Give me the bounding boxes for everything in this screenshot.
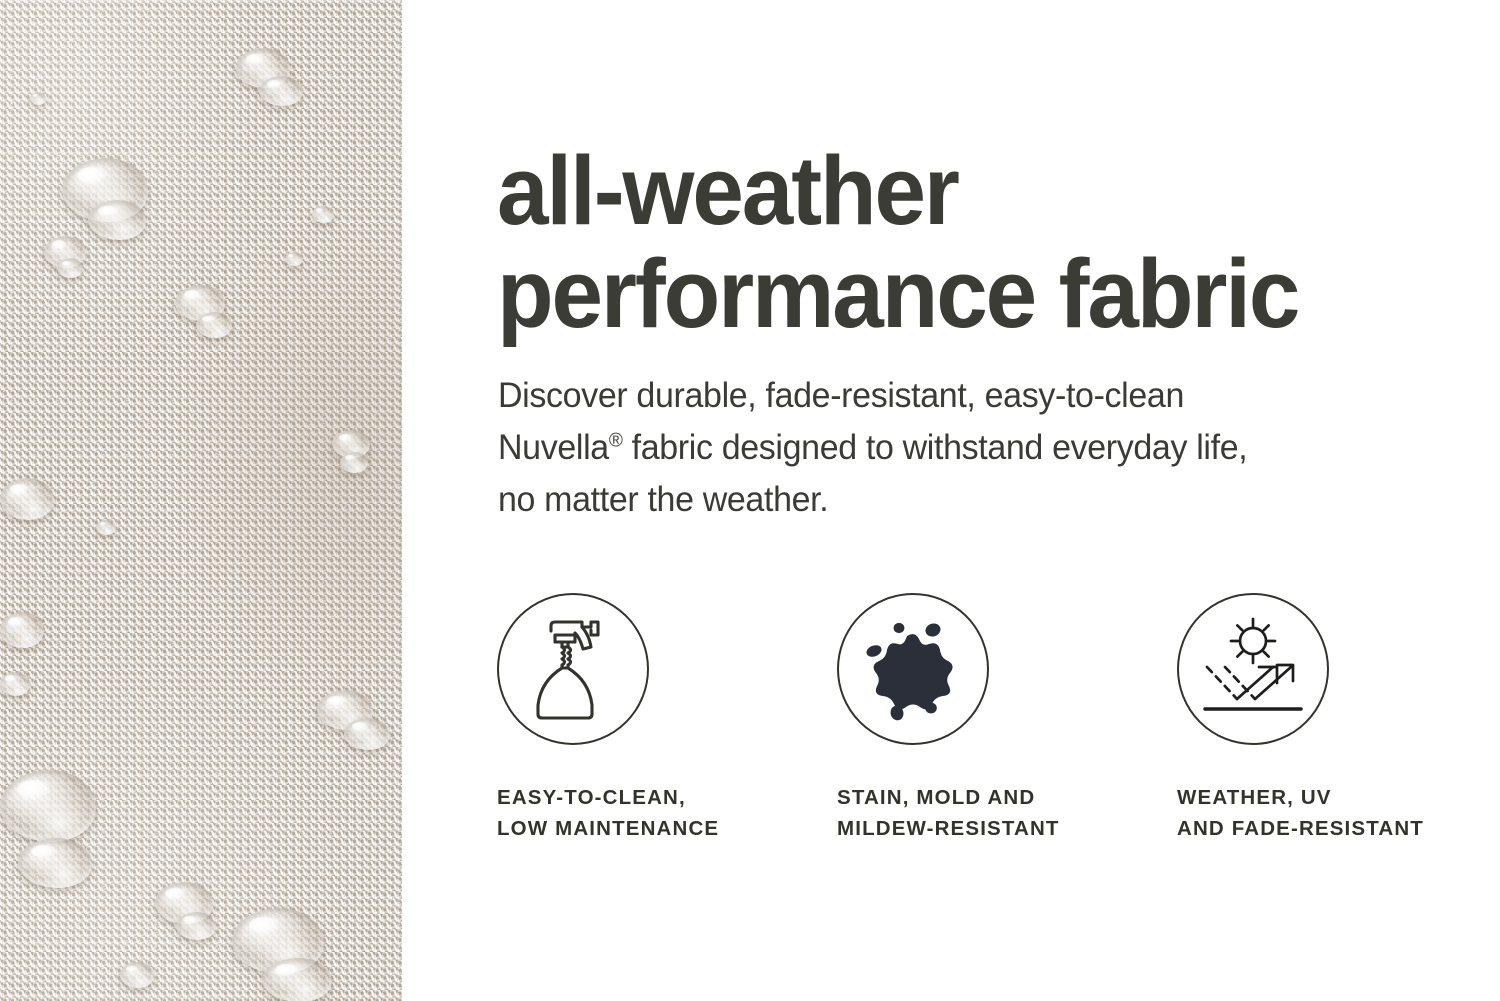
feature-caption: WEATHER, UV AND FADE-RESISTANT (1177, 782, 1500, 844)
feature-easy-to-clean: EASY-TO-CLEAN, LOW MAINTENANCE (497, 593, 837, 844)
fabric-photo-panel (0, 0, 402, 1001)
water-droplet (96, 520, 116, 535)
water-droplet (259, 76, 303, 106)
water-droplet (0, 770, 96, 842)
feature-stain-resistant: STAIN, MOLD AND MILDEW-RESISTANT (837, 593, 1177, 844)
water-droplet (262, 958, 332, 1001)
feature-caption: EASY-TO-CLEAN, LOW MAINTENANCE (497, 782, 837, 844)
description-line-2: fabric designed to withstand everyday li… (623, 428, 1248, 467)
water-droplet (30, 92, 46, 105)
feature-caption: STAIN, MOLD AND MILDEW-RESISTANT (837, 782, 1177, 844)
water-droplet (312, 206, 334, 223)
water-droplet (57, 258, 83, 278)
water-droplet (0, 478, 54, 520)
feature-icon-badge (837, 593, 989, 745)
water-droplet (0, 612, 44, 648)
water-droplet (88, 200, 146, 240)
content-column: all-weatherperformance fabric Discover d… (497, 0, 1457, 1001)
water-droplet (120, 962, 154, 988)
water-droplet (196, 312, 232, 338)
water-droplet (176, 912, 216, 940)
description-line-1: Discover durable, fade-resistant, easy-t… (498, 376, 1184, 415)
water-droplet (285, 252, 303, 266)
registered-trademark-icon: ® (609, 429, 623, 451)
water-droplet (340, 452, 368, 473)
feature-icon-badge (497, 593, 649, 745)
brand-name: Nuvella (498, 428, 609, 467)
description-paragraph: Discover durable, fade-resistant, easy-t… (498, 370, 1371, 526)
water-droplet (18, 838, 92, 888)
feature-icon-badge (1177, 593, 1329, 745)
spray-bottle-icon (521, 613, 625, 725)
feature-weather-uv-resistant: WEATHER, UV AND FADE-RESISTANT (1177, 593, 1500, 844)
water-droplet (0, 672, 30, 696)
page-title: all-weatherperformance fabric (497, 139, 1395, 345)
all-weather-fabric-banner: all-weatherperformance fabric Discover d… (0, 0, 1500, 1001)
description-line-3: no matter the weather. (498, 480, 828, 519)
feature-list: EASY-TO-CLEAN, LOW MAINTENANCE (497, 593, 1457, 844)
stain-splat-icon (861, 617, 965, 721)
water-droplet (344, 718, 390, 750)
sun-uv-reflect-icon (1197, 617, 1309, 721)
